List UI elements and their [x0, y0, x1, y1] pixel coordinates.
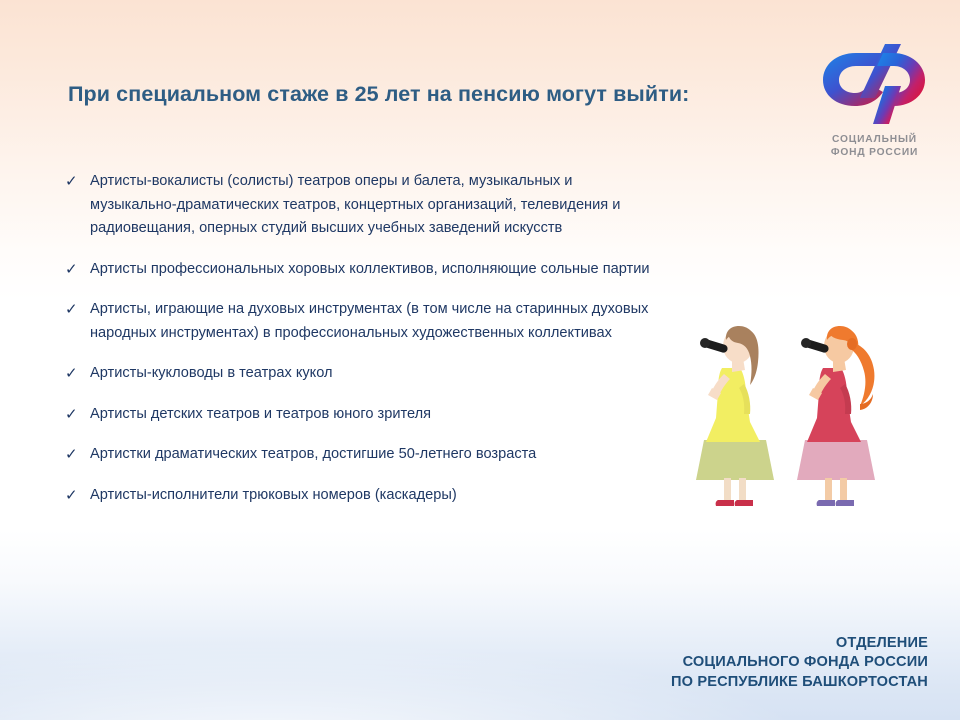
footer-line-1: ОТДЕЛЕНИЕ — [671, 634, 928, 654]
singer-left-figure — [696, 326, 774, 506]
checkmark-icon: ✓ — [62, 298, 90, 321]
benefit-categories-list: ✓ Артисты-вокалисты (солисты) театров оп… — [62, 170, 662, 507]
list-item: ✓ Артисты-исполнители трюковых номеров (… — [62, 484, 662, 508]
checkmark-icon: ✓ — [62, 443, 90, 466]
list-item-label: Артисты-кукловоды в театрах кукол — [90, 362, 662, 386]
sfr-logo: СОЦИАЛЬНЫЙ ФОНД РОССИИ — [797, 36, 952, 160]
list-item: ✓ Артисты профессиональных хоровых колле… — [62, 258, 662, 282]
checkmark-icon: ✓ — [62, 170, 90, 193]
slide-canvas: При специальном стаже в 25 лет на пенсию… — [0, 0, 960, 720]
page-title: При специальном стаже в 25 лет на пенсию… — [68, 82, 689, 107]
sfr-monogram-icon — [815, 36, 935, 128]
list-item-label: Артисты-вокалисты (солисты) театров опер… — [90, 170, 662, 241]
footer-organization-name: ОТДЕЛЕНИЕ СОЦИАЛЬНОГО ФОНДА РОССИИ ПО РЕ… — [671, 634, 928, 693]
list-item: ✓ Артисты, играющие на духовых инструмен… — [62, 298, 662, 345]
list-item-label: Артисты детских театров и театров юного … — [90, 403, 662, 427]
list-item: ✓ Артисты-кукловоды в театрах кукол — [62, 362, 662, 386]
two-singers-icon — [688, 322, 888, 517]
singers-illustration — [688, 322, 888, 517]
list-item: ✓ Артисты детских театров и театров юног… — [62, 403, 662, 427]
list-item-label: Артисты-исполнители трюковых номеров (ка… — [90, 484, 662, 508]
footer-line-3: ПО РЕСПУБЛИКЕ БАШКОРТОСТАН — [671, 673, 928, 693]
list-item: ✓ Артистки драматических театров, достиг… — [62, 443, 662, 467]
footer-line-2: СОЦИАЛЬНОГО ФОНДА РОССИИ — [671, 653, 928, 673]
list-item-label: Артисты профессиональных хоровых коллект… — [90, 258, 662, 282]
logo-caption-line1: СОЦИАЛЬНЫЙ — [797, 133, 952, 146]
checkmark-icon: ✓ — [62, 403, 90, 426]
checkmark-icon: ✓ — [62, 362, 90, 385]
logo-caption-line2: ФОНД РОССИИ — [797, 146, 952, 159]
logo-caption: СОЦИАЛЬНЫЙ ФОНД РОССИИ — [797, 133, 952, 160]
checkmark-icon: ✓ — [62, 258, 90, 281]
checkmark-icon: ✓ — [62, 484, 90, 507]
list-item-label: Артисты, играющие на духовых инструмента… — [90, 298, 662, 345]
list-item-label: Артистки драматических театров, достигши… — [90, 443, 662, 467]
singer-right-figure — [797, 326, 875, 506]
list-item: ✓ Артисты-вокалисты (солисты) театров оп… — [62, 170, 662, 241]
